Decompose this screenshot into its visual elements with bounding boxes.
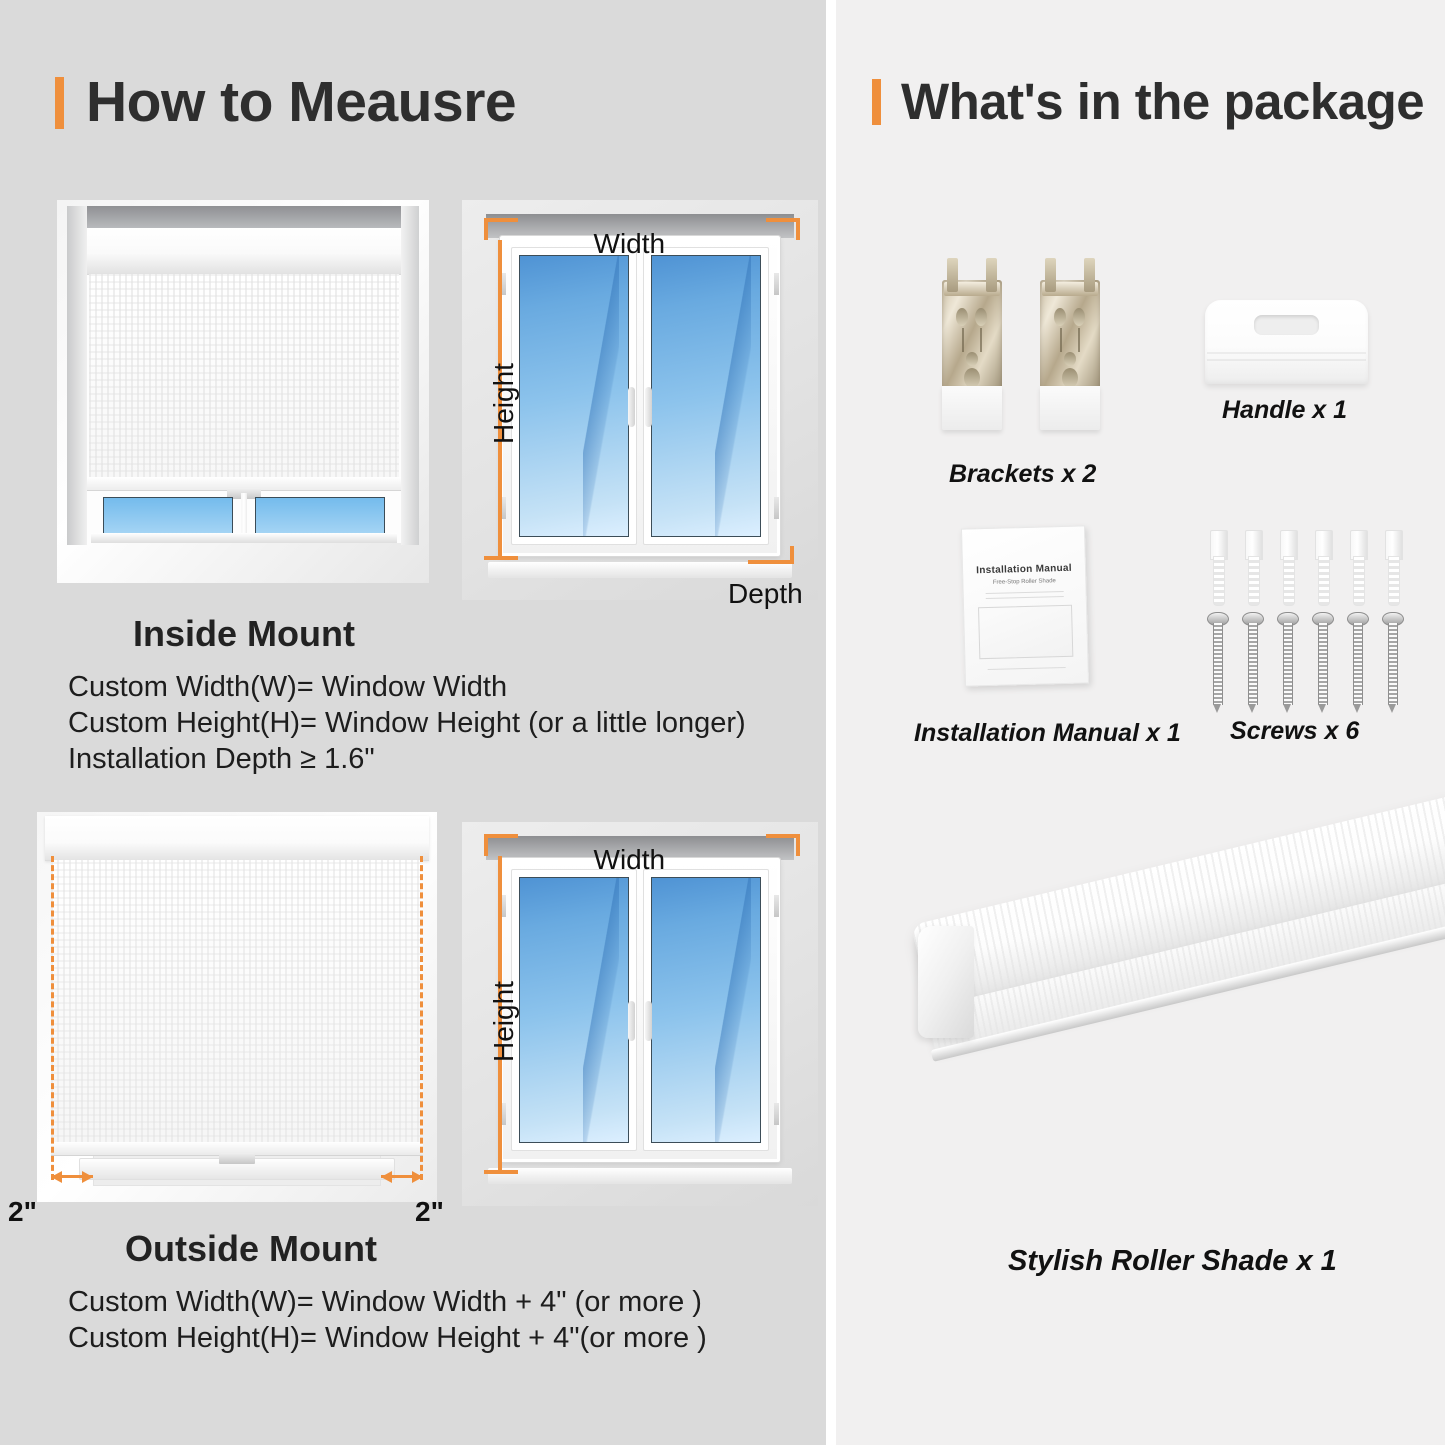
- width-marker-left-tick: [484, 218, 488, 240]
- overhang-left-label: 2": [8, 1196, 37, 1228]
- manual-rule: [986, 591, 1064, 594]
- width-marker-right: [766, 218, 800, 222]
- window-sash-right: [643, 869, 769, 1151]
- window-glass-strip: [87, 491, 401, 543]
- shade-cassette: [45, 816, 429, 861]
- manual-cover-figure: [978, 605, 1073, 659]
- manual-rule: [986, 596, 1064, 599]
- wall-anchor-icon: [1208, 530, 1228, 604]
- window-pane-left: [519, 255, 629, 537]
- wall-anchor-icon: [1313, 530, 1333, 604]
- bracket-crease: [980, 328, 982, 352]
- window-handle-left-icon: [628, 1001, 635, 1041]
- depth-label: Depth: [728, 578, 803, 610]
- window-sash-left: [511, 869, 637, 1151]
- handle-grip-slot: [1254, 315, 1319, 335]
- roller-shade-label: Stylish Roller Shade x 1: [1008, 1245, 1337, 1278]
- window-frame: [500, 236, 780, 556]
- inside-mount-line-3: Installation Depth ≥ 1.6": [68, 742, 375, 777]
- package-heading: What's in the package: [872, 76, 1424, 127]
- overhang-guide-right: [420, 856, 423, 1180]
- bracket-tab: [947, 258, 958, 292]
- infographic-page: How to Meausre What's in the package: [0, 0, 1445, 1445]
- window-sill: [488, 562, 792, 578]
- screws-label: Screws x 6: [1230, 717, 1359, 746]
- bracket-tab: [1045, 258, 1056, 292]
- shade-pull-handle-icon: [219, 1153, 255, 1164]
- bracket-tab: [986, 258, 997, 292]
- width-label: Width: [594, 844, 666, 876]
- width-marker-left-tick: [484, 834, 488, 856]
- handle-ridge: [1207, 359, 1366, 361]
- shade-fabric: [51, 860, 423, 1144]
- manual-rule: [988, 667, 1066, 670]
- depth-marker-line: [748, 560, 794, 564]
- window-handle-left-icon: [628, 387, 635, 427]
- screw-icon: [1347, 612, 1367, 712]
- window-hinge-icon: [774, 273, 779, 295]
- handle-body: [1205, 300, 1368, 384]
- arrow-icon: [82, 1171, 93, 1183]
- shade-cassette: [87, 228, 401, 275]
- inside-mount-line-2: Custom Height(H)= Window Height (or a li…: [68, 706, 746, 741]
- window-frame: [500, 858, 780, 1162]
- inside-mount-shade-illustration: [57, 200, 429, 583]
- package-title: What's in the package: [901, 76, 1424, 127]
- screw-icon: [1207, 612, 1227, 712]
- arrow-icon: [381, 1171, 392, 1183]
- shade-fabric: [89, 274, 399, 479]
- panel-divider: [826, 0, 836, 1445]
- wall-anchor-icon: [1383, 530, 1403, 604]
- overhang-guide-left: [51, 856, 54, 1180]
- brackets-label: Brackets x 2: [949, 460, 1096, 489]
- window-opening: [87, 228, 401, 543]
- bracket-body: [1040, 280, 1100, 392]
- width-label: Width: [594, 228, 666, 260]
- window-reveal-top: [67, 206, 419, 228]
- outside-mount-measure-diagram: Width Height: [462, 822, 818, 1206]
- window-handle-right-icon: [645, 387, 652, 427]
- depth-marker-tick: [790, 546, 794, 564]
- window-pane-left: [103, 497, 234, 537]
- manual-cover-subtitle: Free-Stop Roller Shade: [963, 577, 1085, 586]
- window-hinge-icon: [774, 497, 779, 519]
- arrow-icon: [51, 1171, 62, 1183]
- accent-bar-icon: [55, 77, 64, 129]
- window-pane-right: [651, 877, 761, 1143]
- wall-anchor-icon: [1348, 530, 1368, 604]
- installation-manual-label: Installation Manual x 1: [914, 719, 1181, 748]
- height-label: Height: [488, 363, 520, 444]
- width-marker-right-tick: [796, 218, 800, 240]
- window-hinge-icon: [774, 895, 779, 917]
- roller-shade-icon: [900, 890, 1440, 1220]
- outside-mount-line-1: Custom Width(W)= Window Width + 4" (or m…: [68, 1285, 702, 1320]
- overhang-right-label: 2": [415, 1196, 444, 1228]
- window-pane-right: [255, 497, 386, 537]
- bracket-crease: [1078, 328, 1080, 352]
- bracket-hole: [964, 368, 980, 388]
- handle-label: Handle x 1: [1222, 396, 1347, 425]
- bracket-hole: [1073, 308, 1085, 326]
- outside-mount-shade-illustration: [37, 812, 437, 1202]
- manual-icon: Installation Manual Free-Stop Roller Sha…: [961, 525, 1089, 686]
- screw-icon: [1242, 612, 1262, 712]
- width-marker-right: [766, 834, 800, 838]
- screw-icon: [1277, 612, 1297, 712]
- how-to-measure-title: How to Meausre: [86, 74, 516, 131]
- window-sill: [488, 1168, 792, 1184]
- window-sash-left: [511, 247, 637, 545]
- screw-icon: [1312, 612, 1332, 712]
- arrow-icon: [412, 1171, 423, 1183]
- width-marker-right-tick: [796, 834, 800, 856]
- bracket-hole: [956, 308, 968, 326]
- window-reveal-right: [401, 206, 419, 545]
- bracket-tab: [1084, 258, 1095, 292]
- height-marker-bottom-tick: [484, 556, 518, 560]
- height-marker-bottom-tick: [484, 1170, 518, 1174]
- bracket-base: [1040, 386, 1100, 430]
- window-hinge-icon: [774, 1103, 779, 1125]
- bracket-hole: [1054, 308, 1066, 326]
- outside-mount-line-2: Custom Height(H)= Window Height + 4"(or …: [68, 1321, 707, 1356]
- handle-ridge: [1207, 352, 1366, 354]
- roller-shade-end-cap: [918, 926, 974, 1038]
- screw-icon: [1382, 612, 1402, 712]
- inside-mount-measure-diagram: Width Height: [462, 200, 818, 600]
- how-to-measure-heading: How to Meausre: [55, 74, 516, 131]
- bracket-hole: [975, 308, 987, 326]
- bracket-hole: [1062, 368, 1078, 388]
- width-marker-left: [484, 218, 518, 222]
- wall-anchor-icon: [1278, 530, 1298, 604]
- height-label: Height: [488, 981, 520, 1062]
- bracket-body: [942, 280, 1002, 392]
- window-handle-right-icon: [645, 1001, 652, 1041]
- bracket-icon: [942, 280, 1002, 430]
- outside-mount-title: Outside Mount: [125, 1228, 377, 1270]
- bracket-crease: [1060, 328, 1062, 352]
- bracket-hole: [966, 352, 978, 366]
- inside-mount-line-1: Custom Width(W)= Window Width: [68, 670, 507, 705]
- bracket-icon: [1040, 280, 1100, 430]
- accent-bar-icon: [872, 79, 881, 125]
- bracket-hole: [1064, 352, 1076, 366]
- window-sash-right: [643, 247, 769, 545]
- window-sill: [91, 533, 397, 543]
- inside-mount-title: Inside Mount: [133, 613, 355, 655]
- bracket-base: [942, 386, 1002, 430]
- handle-icon: [1205, 300, 1368, 384]
- window-pane-left: [519, 877, 629, 1143]
- wall-anchor-icon: [1243, 530, 1263, 604]
- bracket-crease: [962, 328, 964, 352]
- manual-cover-title: Installation Manual: [963, 562, 1085, 576]
- window-reveal-left: [67, 206, 87, 545]
- window-pane-right: [651, 255, 761, 537]
- width-marker-left: [484, 834, 518, 838]
